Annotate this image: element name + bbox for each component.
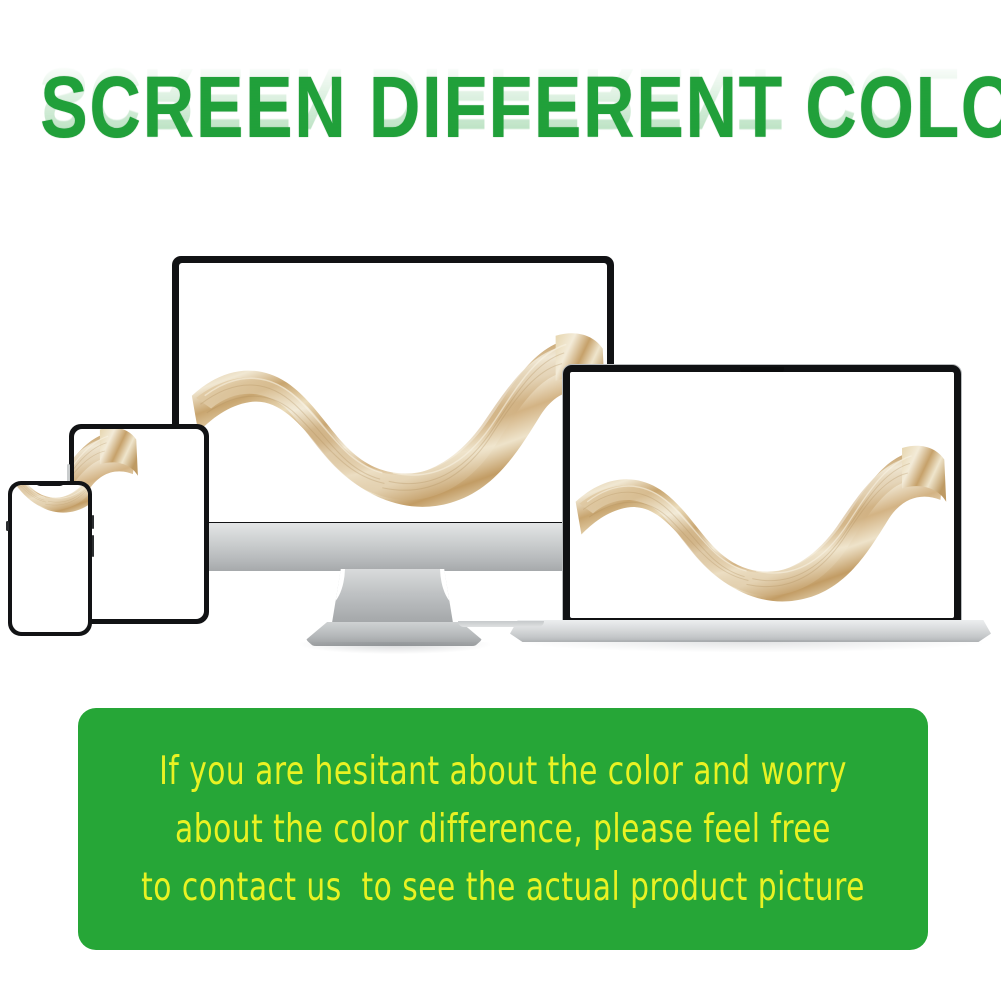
- monitor-chin-bar: [170, 523, 616, 571]
- laptop-base: [510, 620, 991, 642]
- tablet-volume-button: [67, 464, 70, 482]
- phone-volume-up-button: [92, 515, 95, 529]
- phone-volume-down-button: [92, 535, 95, 557]
- laptop-shadow: [520, 640, 982, 652]
- phone-mute-switch: [6, 521, 9, 531]
- page-title-reflection: SCREEN DIFFERENT COLOR: [40, 54, 961, 144]
- promo-image-root: SCREEN DIFFERENT COLOR SCREEN DIFFERENT …: [0, 0, 1001, 1001]
- color-disclaimer-callout: If you are hesitant about the color and …: [78, 708, 928, 950]
- hair-extension-image-laptop: [570, 372, 954, 618]
- monitor-shadow: [300, 642, 490, 654]
- phone-notch: [35, 481, 65, 486]
- laptop-lid-notch: [458, 621, 544, 627]
- headline-block: SCREEN DIFFERENT COLOR SCREEN DIFFERENT …: [0, 62, 1001, 182]
- smartphone: [8, 481, 92, 636]
- laptop: [562, 364, 962, 626]
- hair-extension-image-desktop: [179, 263, 607, 522]
- monitor-screen: [179, 263, 607, 522]
- callout-line-3: to contact us to see the actual product …: [141, 853, 865, 921]
- desktop-monitor: [172, 256, 614, 528]
- hair-extension-image-phone: [12, 485, 88, 632]
- device-showcase: [0, 230, 1001, 660]
- phone-screen: [12, 485, 88, 632]
- laptop-screen: [570, 372, 954, 618]
- monitor-stand-neck: [331, 569, 454, 629]
